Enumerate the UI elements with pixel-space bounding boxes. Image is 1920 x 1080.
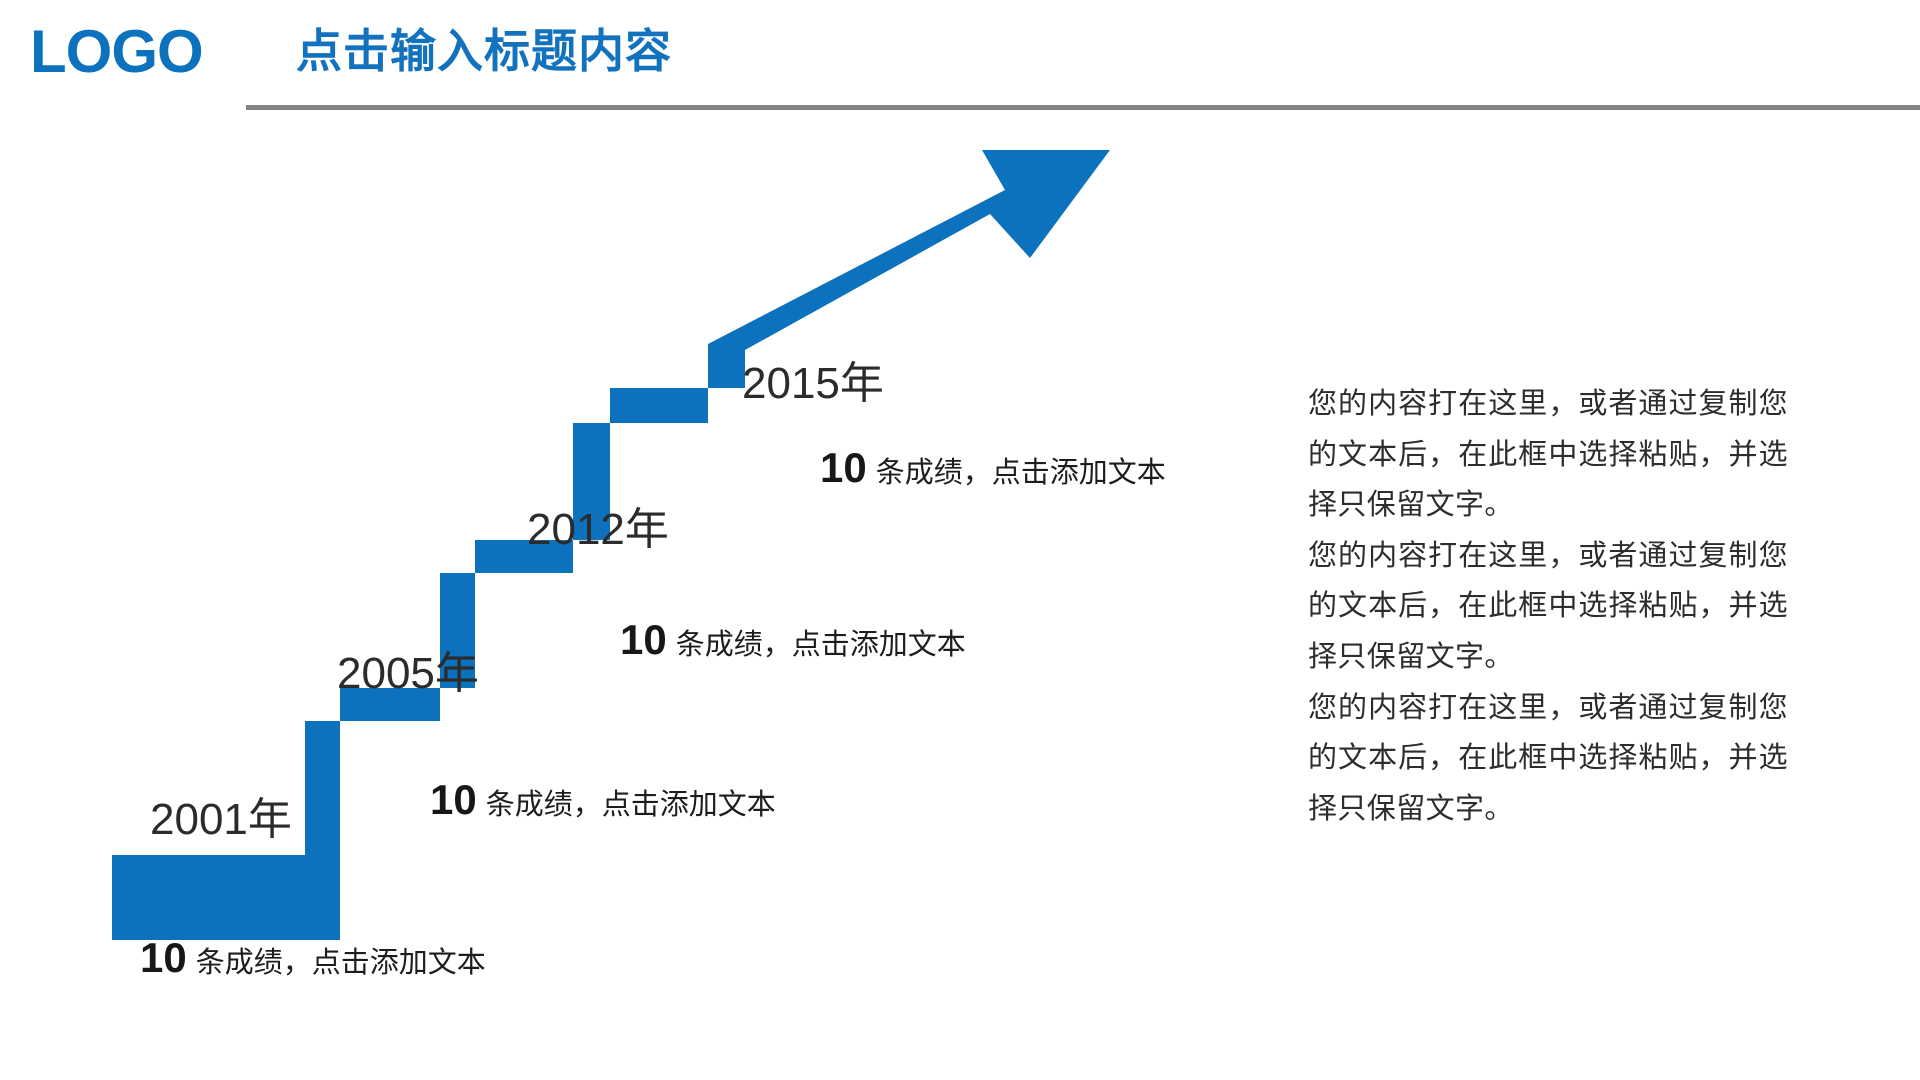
- achievement-label-2001[interactable]: 10条成绩，点击添加文本: [140, 937, 486, 979]
- year-label-2005[interactable]: 2005年: [337, 637, 479, 701]
- achievement-text-2005: 条成绩，点击添加文本: [486, 787, 776, 821]
- achievement-text-2001: 条成绩，点击添加文本: [196, 945, 486, 979]
- achievement-label-2005[interactable]: 10条成绩，点击添加文本: [430, 779, 776, 821]
- slide-header: LOGO 点击输入标题内容: [0, 0, 1920, 120]
- body-paragraph-1: 您的内容打在这里，或者通过复制您的文本后，在此框中选择粘贴，并选择只保留文字。: [1308, 378, 1788, 530]
- achievement-label-2012[interactable]: 10条成绩，点击添加文本: [620, 619, 966, 661]
- header-divider: [246, 105, 1920, 110]
- achievement-label-2015[interactable]: 10条成绩，点击添加文本: [820, 447, 1166, 489]
- body-copy-block[interactable]: 您的内容打在这里，或者通过复制您的文本后，在此框中选择粘贴，并选择只保留文字。 …: [1308, 378, 1788, 833]
- year-label-2001[interactable]: 2001年: [150, 783, 292, 847]
- achievement-count-2015: 10: [820, 444, 867, 491]
- body-paragraph-2: 您的内容打在这里，或者通过复制您的文本后，在此框中选择粘贴，并选择只保留文字。: [1308, 530, 1788, 682]
- body-paragraph-3: 您的内容打在这里，或者通过复制您的文本后，在此框中选择粘贴，并选择只保留文字。: [1308, 682, 1788, 834]
- page-title[interactable]: 点击输入标题内容: [296, 26, 672, 77]
- achievement-count-2001: 10: [140, 934, 187, 981]
- achievement-text-2015: 条成绩，点击添加文本: [876, 455, 1166, 489]
- logo[interactable]: LOGO: [30, 22, 203, 82]
- year-label-2015[interactable]: 2015年: [742, 347, 884, 411]
- achievement-count-2012: 10: [620, 616, 667, 663]
- year-label-2012[interactable]: 2012年: [527, 493, 669, 557]
- achievement-text-2012: 条成绩，点击添加文本: [676, 627, 966, 661]
- achievement-count-2005: 10: [430, 776, 477, 823]
